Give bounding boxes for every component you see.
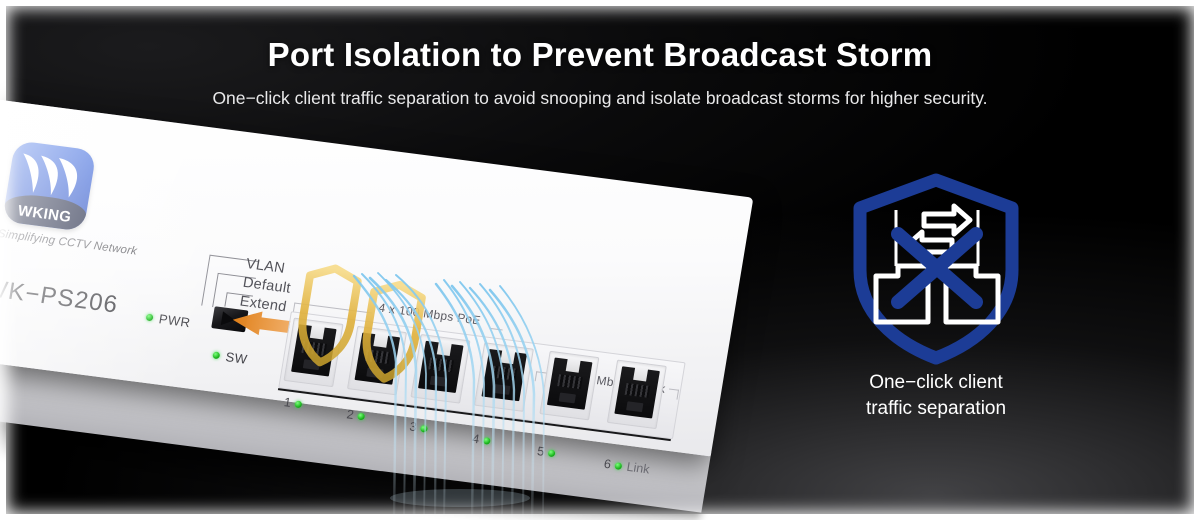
brand-block: WKING Simplifying CCTV Network xyxy=(0,140,152,258)
port-indicator-2: 2 xyxy=(346,407,366,423)
rj45-jack-4 xyxy=(481,349,527,401)
port-number-5: 5 xyxy=(536,444,545,459)
power-led xyxy=(146,314,154,322)
port-number-6: 6 xyxy=(603,457,612,472)
rj45-tab-5 xyxy=(559,392,576,403)
power-led-indicator: PWR xyxy=(145,309,192,331)
port-indicator-1: 1 xyxy=(283,395,303,411)
port-indicator-5: 5 xyxy=(536,444,556,460)
rj45-notch-6 xyxy=(633,367,648,382)
exchange-arrow-right-icon xyxy=(924,206,970,234)
rj45-pins-4 xyxy=(492,366,518,381)
rj45-port-4[interactable] xyxy=(474,342,534,412)
rj45-tab-4 xyxy=(493,384,510,395)
feature-caption-line-1: One−click client xyxy=(806,370,1066,396)
switch-led-indicator: SW xyxy=(212,347,249,367)
port-led-4 xyxy=(483,437,491,445)
port-number-1: 1 xyxy=(283,395,292,410)
rj45-jack-5 xyxy=(547,357,593,409)
link-label: Link xyxy=(626,460,651,477)
port-number-4: 4 xyxy=(471,432,480,447)
feature-caption-line-2: traffic separation xyxy=(806,396,1066,422)
rj45-pins-6 xyxy=(625,383,651,398)
wking-logo-icon: WKING xyxy=(2,140,97,232)
port-led-3 xyxy=(420,425,428,433)
rj45-jack-6 xyxy=(614,366,660,418)
port-indicator-4: 4 xyxy=(471,432,491,448)
feature-caption: One−click client traffic separation xyxy=(806,370,1066,422)
rj45-notch-3 xyxy=(437,341,452,356)
port-led-1 xyxy=(294,401,302,409)
brand-tagline: Simplifying CCTV Network xyxy=(0,228,138,258)
switch-led xyxy=(212,352,220,360)
banner-canvas: Port Isolation to Prevent Broadcast Stor… xyxy=(0,0,1200,520)
port-led-5 xyxy=(547,450,555,458)
poe-group-bracket-right xyxy=(491,328,503,331)
port-led-6 xyxy=(614,462,622,470)
rj45-port-6[interactable] xyxy=(607,360,667,430)
page-subtitle: One−click client traffic separation to a… xyxy=(0,88,1200,109)
port-number-2: 2 xyxy=(346,407,355,422)
port-isolation-shield-icon xyxy=(836,166,1036,366)
rj45-jack-3 xyxy=(418,341,464,393)
dip-switch-callouts: VLAN Default Extend xyxy=(238,255,295,317)
rj45-tab-6 xyxy=(626,401,643,412)
rj45-pins-5 xyxy=(557,374,583,389)
rj45-notch-5 xyxy=(566,358,581,373)
port-number-3: 3 xyxy=(409,419,418,434)
rj45-tab-3 xyxy=(430,376,447,387)
model-number: WK−PS206 xyxy=(0,275,120,320)
port-led-2 xyxy=(357,413,365,421)
rj45-port-5[interactable] xyxy=(539,351,599,421)
rj45-notch-4 xyxy=(500,350,515,365)
page-title: Port Isolation to Prevent Broadcast Stor… xyxy=(0,36,1200,74)
switch-led-label: SW xyxy=(224,349,248,367)
power-led-label: PWR xyxy=(158,311,192,330)
port-indicator-3: 3 xyxy=(409,419,429,435)
rj45-pins-3 xyxy=(428,357,454,372)
rj45-port-3[interactable] xyxy=(410,334,470,404)
poe-group-tick-left xyxy=(293,303,295,312)
